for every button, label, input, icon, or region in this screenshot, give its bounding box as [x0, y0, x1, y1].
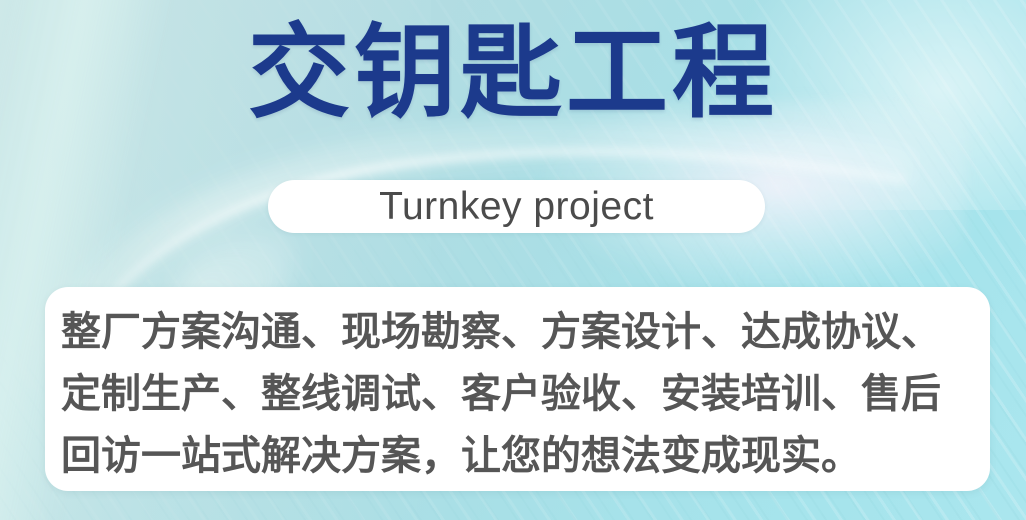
description-line: 整厂方案沟通、现场勘察、方案设计、达成协议、: [61, 301, 974, 363]
description-text: 整厂方案沟通、现场勘察、方案设计、达成协议、 定制生产、整线调试、客户验收、安装…: [61, 301, 974, 487]
description-line: 定制生产、整线调试、客户验收、安装培训、售后: [61, 363, 974, 425]
description-card: 整厂方案沟通、现场勘察、方案设计、达成协议、 定制生产、整线调试、客户验收、安装…: [45, 287, 990, 491]
page-title: 交钥匙工程: [0, 17, 1026, 131]
subtitle-text: Turnkey project: [379, 185, 654, 229]
description-line: 回访一站式解决方案，让您的想法变成现实。: [61, 425, 974, 487]
promo-banner: 交钥匙工程 Turnkey project 整厂方案沟通、现场勘察、方案设计、达…: [0, 0, 1026, 520]
subtitle-pill: Turnkey project: [268, 180, 765, 233]
